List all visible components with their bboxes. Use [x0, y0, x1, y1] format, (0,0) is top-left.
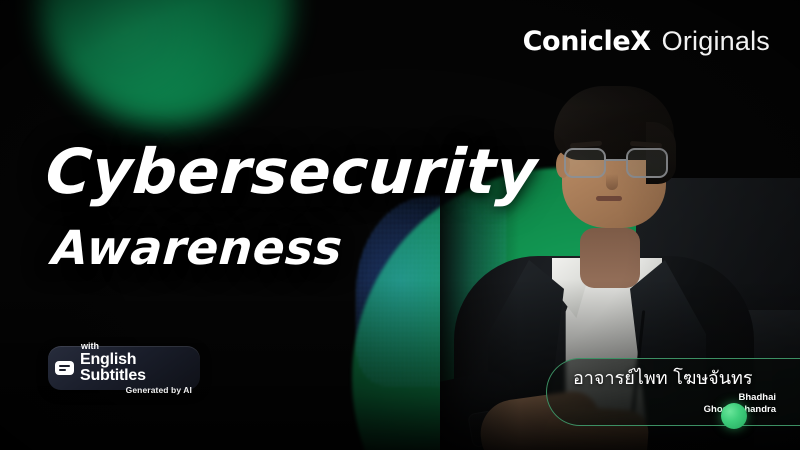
presenter-neck: [580, 228, 640, 288]
subtitles-main-label: English Subtitles: [80, 352, 192, 384]
subtitles-with-label: with: [81, 342, 192, 351]
subtitles-sub-label: Generated by AI: [80, 386, 192, 395]
subtitles-badge-text: with English Subtitles Generated by AI: [80, 342, 192, 395]
brand-lockup: ConicleX Originals: [523, 26, 770, 57]
lens-left: [564, 148, 606, 178]
brand-logo-text: ConicleX: [523, 26, 651, 57]
brand-suffix: Originals: [662, 26, 770, 57]
background-blob-top-left: [38, 0, 292, 126]
nose: [606, 174, 618, 190]
presenter-nameplate: อาจารย์ไพท โฆษจันทร Bhadhai Ghoshachandr…: [546, 358, 800, 426]
presenter-name-english-line1: Bhadhai: [739, 392, 776, 403]
lens-right: [626, 148, 668, 178]
english-subtitles-badge: with English Subtitles Generated by AI: [48, 346, 200, 390]
status-dot-icon: [721, 403, 747, 429]
closed-caption-icon: [55, 361, 74, 375]
mouth: [596, 196, 622, 201]
title-line-2: Awareness: [50, 225, 539, 273]
glasses-bridge: [606, 159, 628, 161]
video-thumbnail: ConicleX Originals Cybersecurity Awarene…: [0, 0, 800, 450]
page-title: Cybersecurity Awareness: [46, 140, 537, 273]
presenter-name-thai: อาจารย์ไพท โฆษจันทร: [573, 368, 776, 391]
title-line-1: Cybersecurity: [44, 140, 540, 203]
